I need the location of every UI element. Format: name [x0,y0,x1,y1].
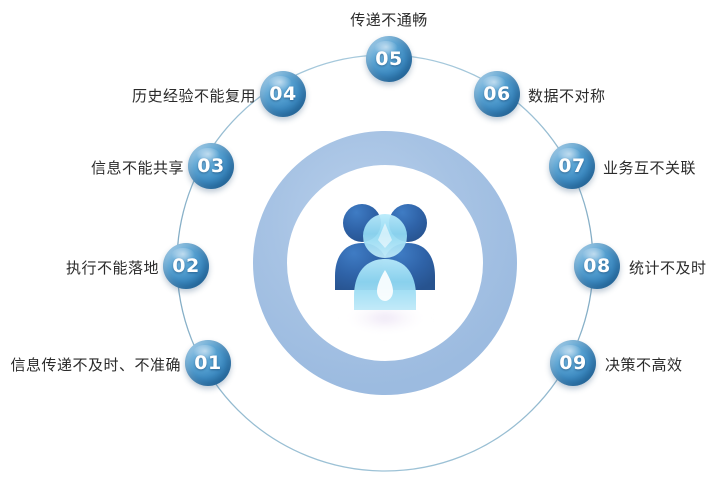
node-07-label: 业务互不关联 [603,157,696,178]
node-09-number: 09 [559,352,586,374]
node-01[interactable]: 01 [185,340,231,386]
node-06-label: 数据不对称 [528,85,606,106]
node-03-number: 03 [197,155,224,177]
node-04-number: 04 [269,83,296,105]
node-03[interactable]: 03 [188,143,234,189]
node-08-number: 08 [583,255,610,277]
group-of-people-icon [330,196,440,321]
node-06-number: 06 [483,83,510,105]
node-09-label: 决策不高效 [605,354,683,375]
node-05[interactable]: 05 [366,36,412,82]
node-02-label: 执行不能落地 [66,257,159,278]
node-02[interactable]: 02 [163,243,209,289]
node-08-label: 统计不及时 [629,257,707,278]
node-08[interactable]: 08 [574,243,620,289]
node-01-number: 01 [194,352,221,374]
node-07[interactable]: 07 [549,143,595,189]
node-03-label: 信息不能共享 [91,157,184,178]
node-05-label: 传递不通畅 [331,9,447,30]
node-02-number: 02 [172,255,199,277]
node-01-label: 信息传递不及时、不准确 [10,354,181,375]
node-04[interactable]: 04 [260,71,306,117]
node-07-number: 07 [558,155,585,177]
node-04-label: 历史经验不能复用 [132,85,256,106]
node-09[interactable]: 09 [550,340,596,386]
node-06[interactable]: 06 [474,71,520,117]
diagram-canvas: 01 02 03 04 05 06 07 08 09 信息传递不及时、不准确 执… [0,0,710,483]
node-05-number: 05 [375,48,402,70]
